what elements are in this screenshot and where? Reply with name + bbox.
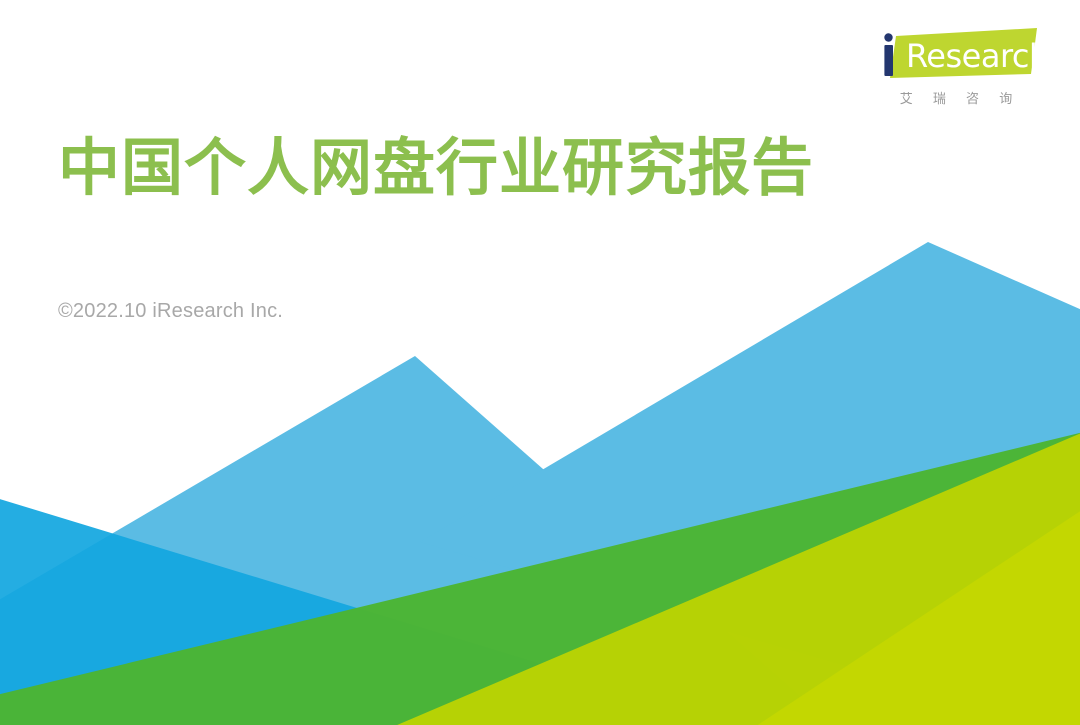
logo-i-dot-icon xyxy=(884,33,892,41)
shape-blue-light-right-peak xyxy=(420,242,1080,725)
logo-i-stem-icon xyxy=(884,45,893,76)
shape-green-yellow-right-wedge xyxy=(362,425,1080,725)
shape-green-yellow-accent xyxy=(735,498,1080,725)
shape-blue-bright-left-band xyxy=(0,493,790,725)
shape-blue-light-left-peak xyxy=(0,356,850,725)
copyright-notice: ©2022.10 iResearch Inc. xyxy=(58,300,283,323)
logo-wordmark: Research xyxy=(906,37,1038,75)
logo-subtitle: 艾 瑞 咨 询 xyxy=(874,88,1038,107)
page-title: 中国个人网盘行业研究报告 xyxy=(58,133,814,202)
report-cover-slide: Research 艾 瑞 咨 询 中国个人网盘行业研究报告 ©2022.10 i… xyxy=(0,0,1080,725)
iresearch-logo-mark: Research xyxy=(874,28,1038,82)
title-wrapper: 中国个人网盘行业研究报告 xyxy=(58,133,814,202)
shape-green-mid-band xyxy=(0,428,1080,725)
background-artwork xyxy=(0,0,1080,725)
iresearch-logo: Research 艾 瑞 咨 询 xyxy=(874,28,1038,107)
